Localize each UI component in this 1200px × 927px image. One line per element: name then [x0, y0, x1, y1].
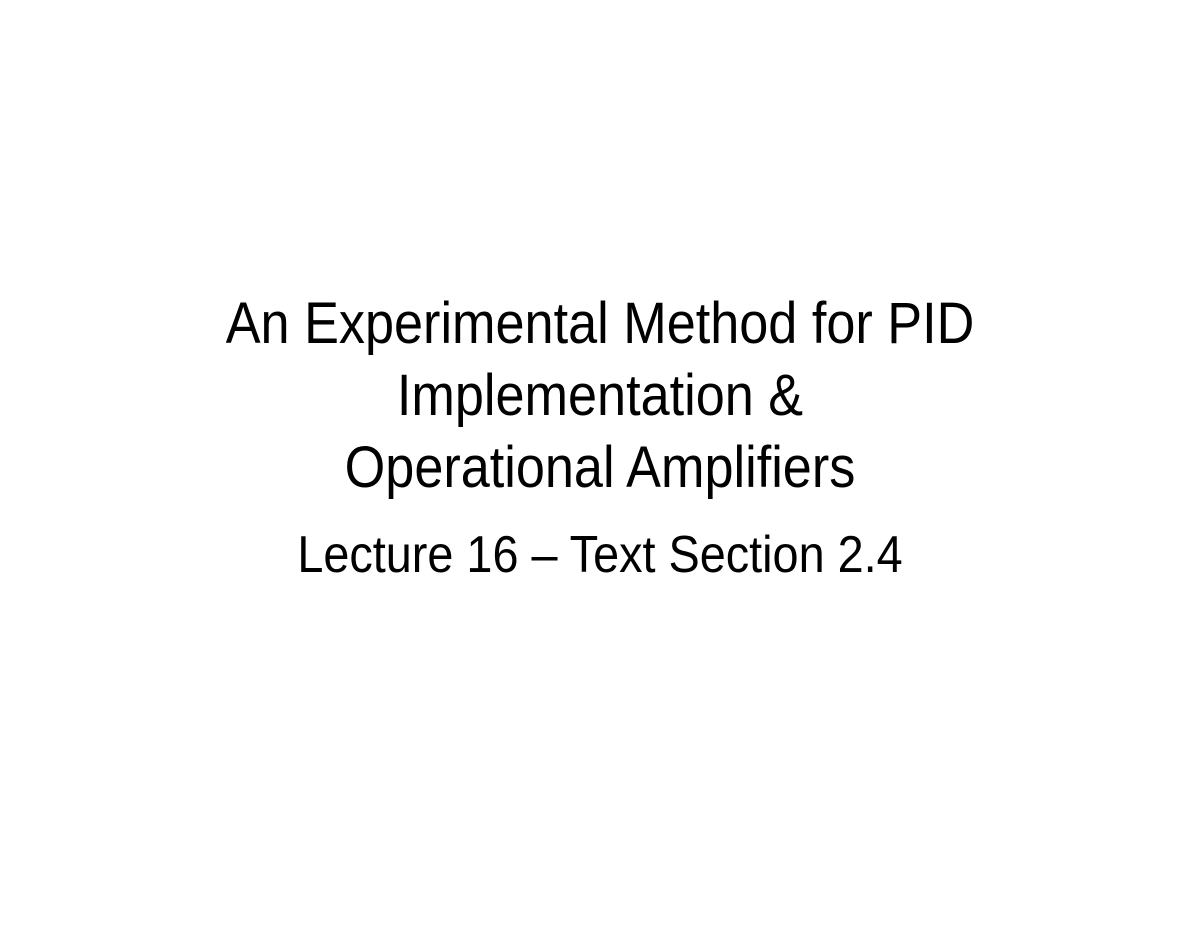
subtitle-line-1: Lecture 16 – Text Section 2.4 — [114, 524, 1086, 586]
slide-title: An Experimental Method for PID Implement… — [60, 288, 1140, 504]
title-line-1: An Experimental Method for PID — [114, 288, 1086, 360]
slide-subtitle: Lecture 16 – Text Section 2.4 — [60, 524, 1140, 586]
title-line-2: Implementation & — [114, 360, 1086, 432]
slide-canvas: An Experimental Method for PID Implement… — [0, 0, 1200, 927]
title-line-3: Operational Amplifiers — [114, 432, 1086, 504]
